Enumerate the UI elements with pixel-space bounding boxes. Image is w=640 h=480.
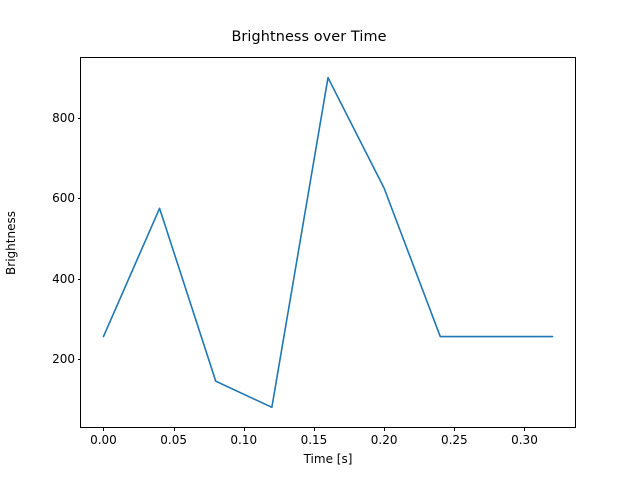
x-tick-label: 0.30 [511, 433, 538, 447]
x-tick-mark [454, 427, 455, 431]
y-tick-mark [78, 359, 82, 360]
y-tick-mark [78, 279, 82, 280]
line-series-svg [81, 58, 577, 429]
y-axis-label-text: Brightness [4, 211, 18, 275]
x-tick-mark [174, 427, 175, 431]
x-tick-label: 0.15 [301, 433, 328, 447]
x-tick-label: 0.10 [230, 433, 257, 447]
y-tick-label: 200 [52, 352, 75, 366]
x-axis-label: Time [s] [80, 452, 576, 466]
y-tick-label: 800 [52, 111, 75, 125]
x-tick-label: 0.20 [371, 433, 398, 447]
x-tick-mark [524, 427, 525, 431]
x-tick-mark [103, 427, 104, 431]
y-tick-mark [78, 198, 82, 199]
brightness-line [103, 78, 552, 408]
y-tick-label: 400 [52, 272, 75, 286]
y-tick-label: 600 [52, 191, 75, 205]
chart-title-text: Brightness over Time [231, 29, 386, 45]
x-tick-label: 0.05 [160, 433, 187, 447]
y-tick-mark [78, 118, 82, 119]
y-axis-label: Brightness [0, 57, 22, 428]
x-tick-mark [244, 427, 245, 431]
x-tick-mark [314, 427, 315, 431]
x-axis-label-text: Time [s] [304, 452, 353, 466]
x-tick-label: 0.25 [441, 433, 468, 447]
plot-axes: 0.000.050.100.150.200.250.30200400600800 [80, 57, 576, 428]
x-tick-label: 0.00 [90, 433, 117, 447]
plot-area [81, 58, 575, 427]
chart-figure: Brightness over Time Brightness 0.000.05… [0, 0, 640, 480]
x-tick-mark [384, 427, 385, 431]
chart-title: Brightness over Time [0, 29, 640, 45]
